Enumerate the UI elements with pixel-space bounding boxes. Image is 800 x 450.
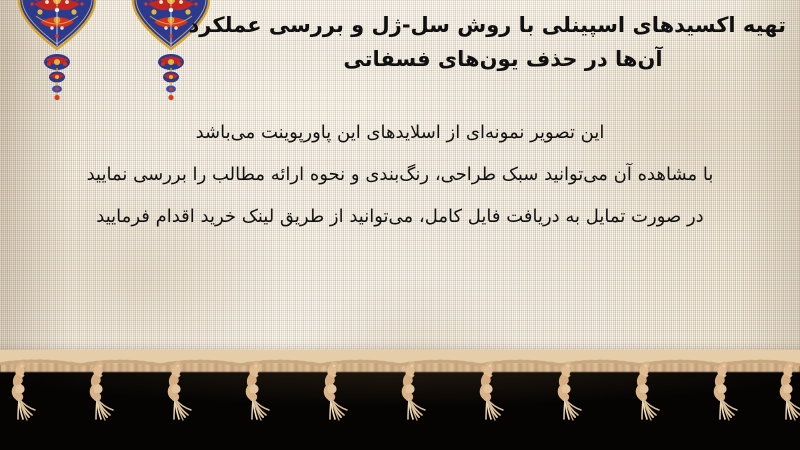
title-line-2: آن‌ها در حذف یون‌های فسفاتی [220,42,786,76]
slide-body-text: این تصویر نمونه‌ای از اسلایدهای این پاور… [0,112,800,238]
illumination-pendant-drop [154,52,188,102]
body-line-2: با مشاهده آن می‌توانید سبک طراحی، رنگ‌بن… [0,154,800,196]
bottom-black-band [0,364,800,450]
title-line-1: تهیه اکسیدهای اسپینلی با روش سل-ژل و برر… [220,8,786,42]
persian-illumination-medallion [16,0,98,52]
carpet-knot-fringe [0,350,800,450]
slide-title: تهیه اکسیدهای اسپینلی با روش سل-ژل و برر… [220,8,786,76]
body-line-1: این تصویر نمونه‌ای از اسلایدهای این پاور… [0,112,800,154]
slide-canvas: تهیه اکسیدهای اسپینلی با روش سل-ژل و برر… [0,0,800,450]
body-line-3: در صورت تمایل به دریافت فایل کامل، می‌تو… [0,196,800,238]
illumination-pendant-drop [40,52,74,102]
